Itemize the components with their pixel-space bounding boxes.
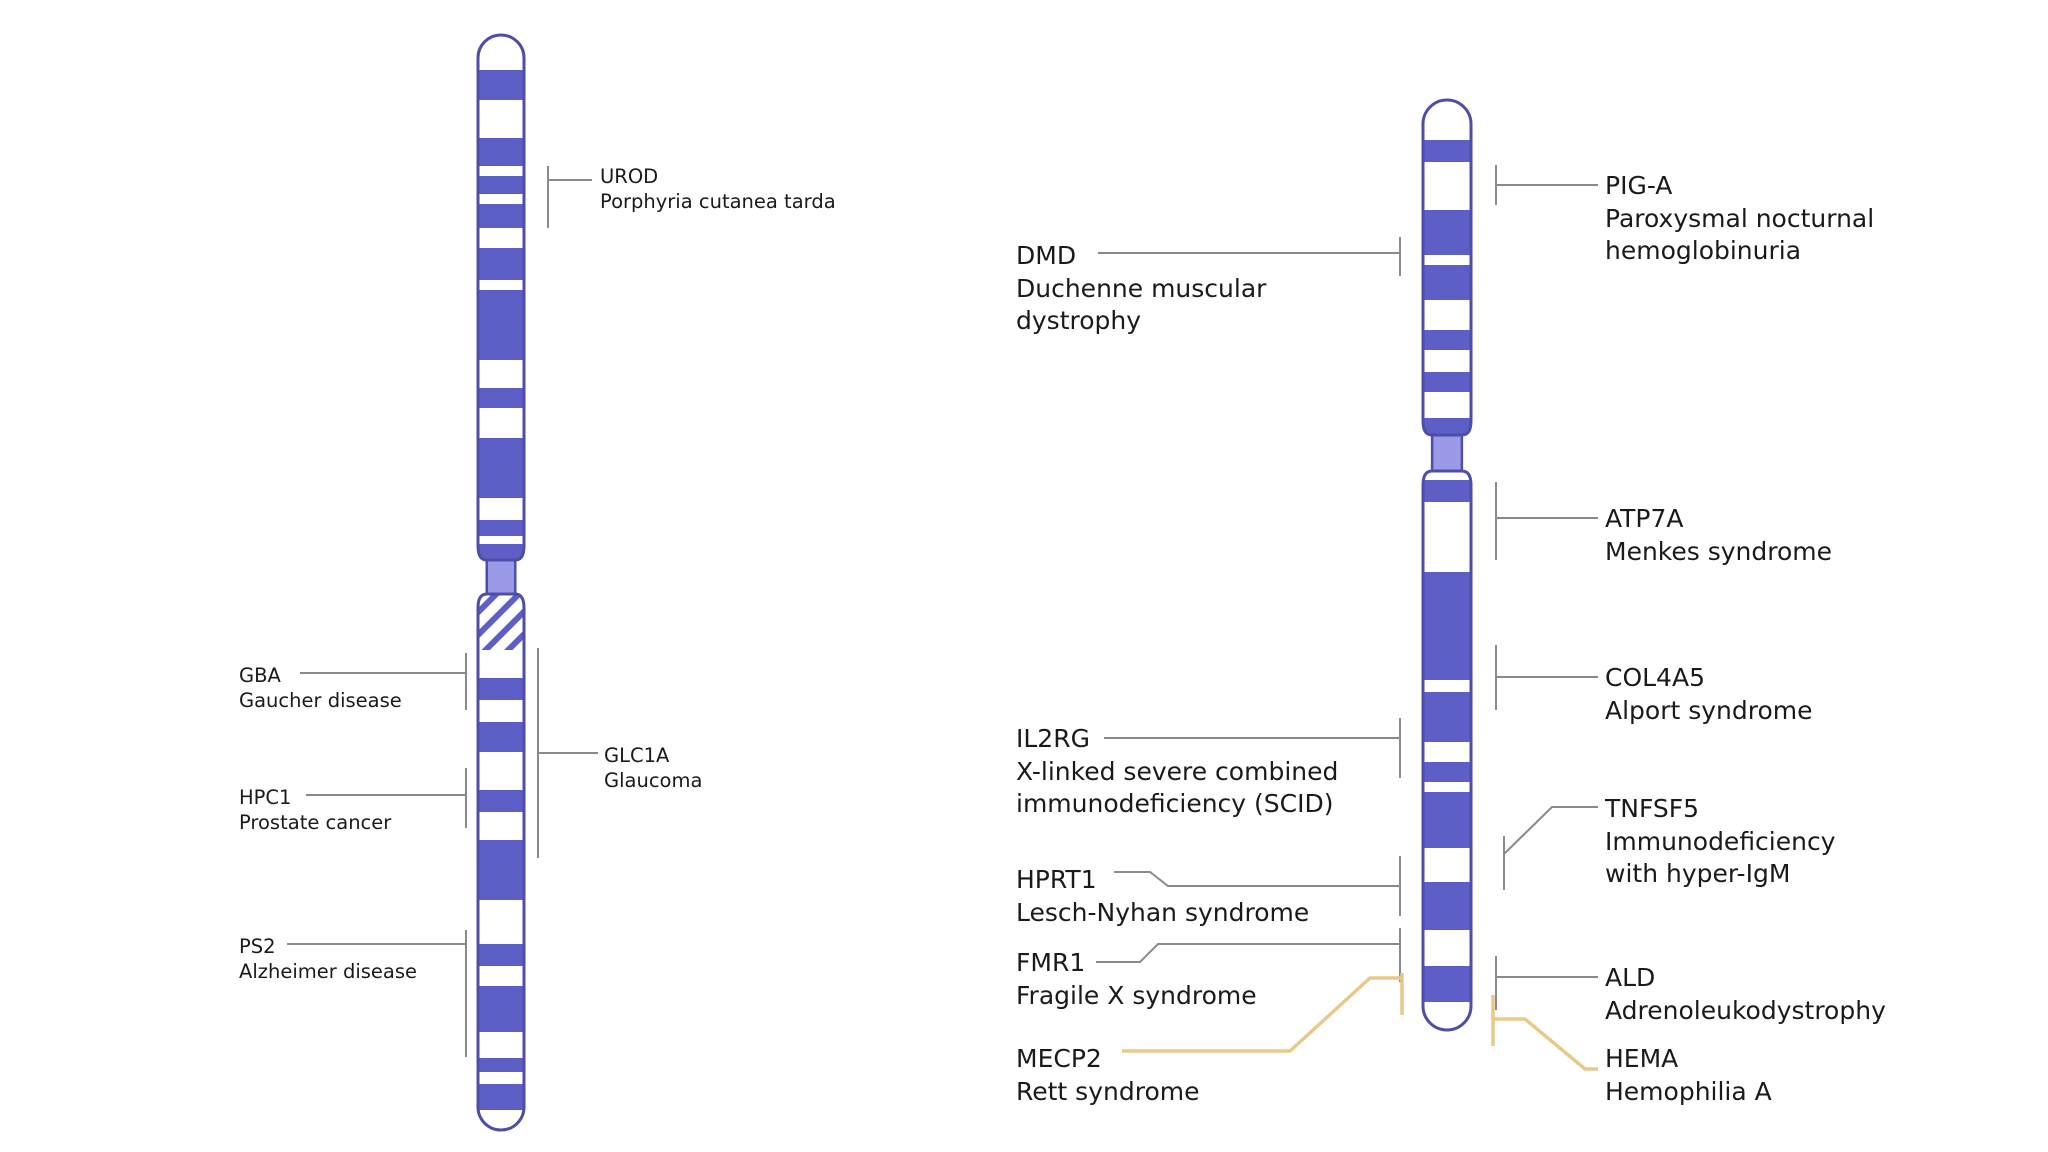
gene-symbol-atp7a: ATP7A [1605,503,1832,536]
leader-pig-a [1496,165,1598,205]
disease-name-il2rg: X-linked severe combinedimmunodeficiency… [1016,756,1338,821]
gene-symbol-mecp2: MECP2 [1016,1043,1199,1076]
disease-name-ald: Adrenoleukodystrophy [1605,995,1886,1028]
disease-name-pig-a: Paroxysmal nocturnalhemoglobinuria [1605,203,1874,268]
disease-line: Immunodeficiency [1605,826,1836,859]
disease-name-dmd: Duchenne musculardystrophy [1016,273,1266,338]
gene-symbol-ald: ALD [1605,962,1886,995]
disease-name-atp7a: Menkes syndrome [1605,536,1832,569]
disease-name-mecp2: Rett syndrome [1016,1076,1199,1109]
leader-polyline-hema [1493,1019,1598,1069]
disease-name-col4a5: Alport syndrome [1605,695,1813,728]
gene-symbol-hpc1: HPC1 [239,785,391,810]
disease-name-ps2: Alzheimer disease [239,959,417,984]
disease-line: hemoglobinuria [1605,235,1874,268]
annotation-urod: URODPorphyria cutanea tarda [600,164,836,215]
annotation-dmd: DMDDuchenne musculardystrophy [1016,240,1266,338]
leader-hema [1493,995,1598,1069]
gene-symbol-dmd: DMD [1016,240,1266,273]
annotation-ald: ALDAdrenoleukodystrophy [1605,962,1886,1027]
disease-name-urod: Porphyria cutanea tarda [600,189,836,214]
gene-symbol-il2rg: IL2RG [1016,723,1338,756]
gene-symbol-gba: GBA [239,663,402,688]
gene-symbol-ps2: PS2 [239,934,417,959]
leader-ald [1496,956,1598,1010]
gene-symbol-col4a5: COL4A5 [1605,662,1813,695]
disease-name-fmr1: Fragile X syndrome [1016,980,1257,1013]
gene-symbol-tnfsf5: TNFSF5 [1605,793,1836,826]
annotation-il2rg: IL2RGX-linked severe combinedimmunodefic… [1016,723,1338,821]
disease-name-glc1a: Glaucoma [604,768,702,793]
gene-symbol-hema: HEMA [1605,1043,1772,1076]
gene-symbol-hprt1: HPRT1 [1016,864,1309,897]
annotation-gba: GBAGaucher disease [239,663,402,714]
gene-symbol-fmr1: FMR1 [1016,947,1257,980]
disease-name-hprt1: Lesch-Nyhan syndrome [1016,897,1309,930]
gene-symbol-pig-a: PIG-A [1605,170,1874,203]
annotation-tnfsf5: TNFSF5Immunodeficiencywith hyper-IgM [1605,793,1836,891]
annotation-pig-a: PIG-AParoxysmal nocturnalhemoglobinuria [1605,170,1874,268]
leader-atp7a [1496,482,1598,560]
leader-polyline-tnfsf5 [1504,807,1598,854]
leader-urod [548,166,592,228]
disease-line: X-linked severe combined [1016,756,1338,789]
disease-line: Duchenne muscular [1016,273,1266,306]
disease-line: dystrophy [1016,305,1266,338]
disease-line: immunodeficiency (SCID) [1016,788,1338,821]
leader-glc1a [538,648,598,858]
annotation-hprt1: HPRT1Lesch-Nyhan syndrome [1016,864,1309,929]
gene-symbol-urod: UROD [600,164,836,189]
disease-name-hpc1: Prostate cancer [239,810,391,835]
leader-col4a5 [1496,645,1598,710]
disease-line: Paroxysmal nocturnal [1605,203,1874,236]
leader-tnfsf5 [1504,807,1598,890]
annotation-hpc1: HPC1Prostate cancer [239,785,391,836]
disease-line: with hyper-IgM [1605,858,1836,891]
annotation-atp7a: ATP7AMenkes syndrome [1605,503,1832,568]
annotation-hema: HEMAHemophilia A [1605,1043,1772,1108]
gene-symbol-glc1a: GLC1A [604,743,702,768]
disease-name-tnfsf5: Immunodeficiencywith hyper-IgM [1605,826,1836,891]
diagram-canvas: URODPorphyria cutanea tardaGBAGaucher di… [0,0,2048,1152]
disease-name-gba: Gaucher disease [239,688,402,713]
annotation-ps2: PS2Alzheimer disease [239,934,417,985]
annotation-glc1a: GLC1AGlaucoma [604,743,702,794]
annotation-mecp2: MECP2Rett syndrome [1016,1043,1199,1108]
disease-name-hema: Hemophilia A [1605,1076,1772,1109]
annotation-fmr1: FMR1Fragile X syndrome [1016,947,1257,1012]
annotation-col4a5: COL4A5Alport syndrome [1605,662,1813,727]
